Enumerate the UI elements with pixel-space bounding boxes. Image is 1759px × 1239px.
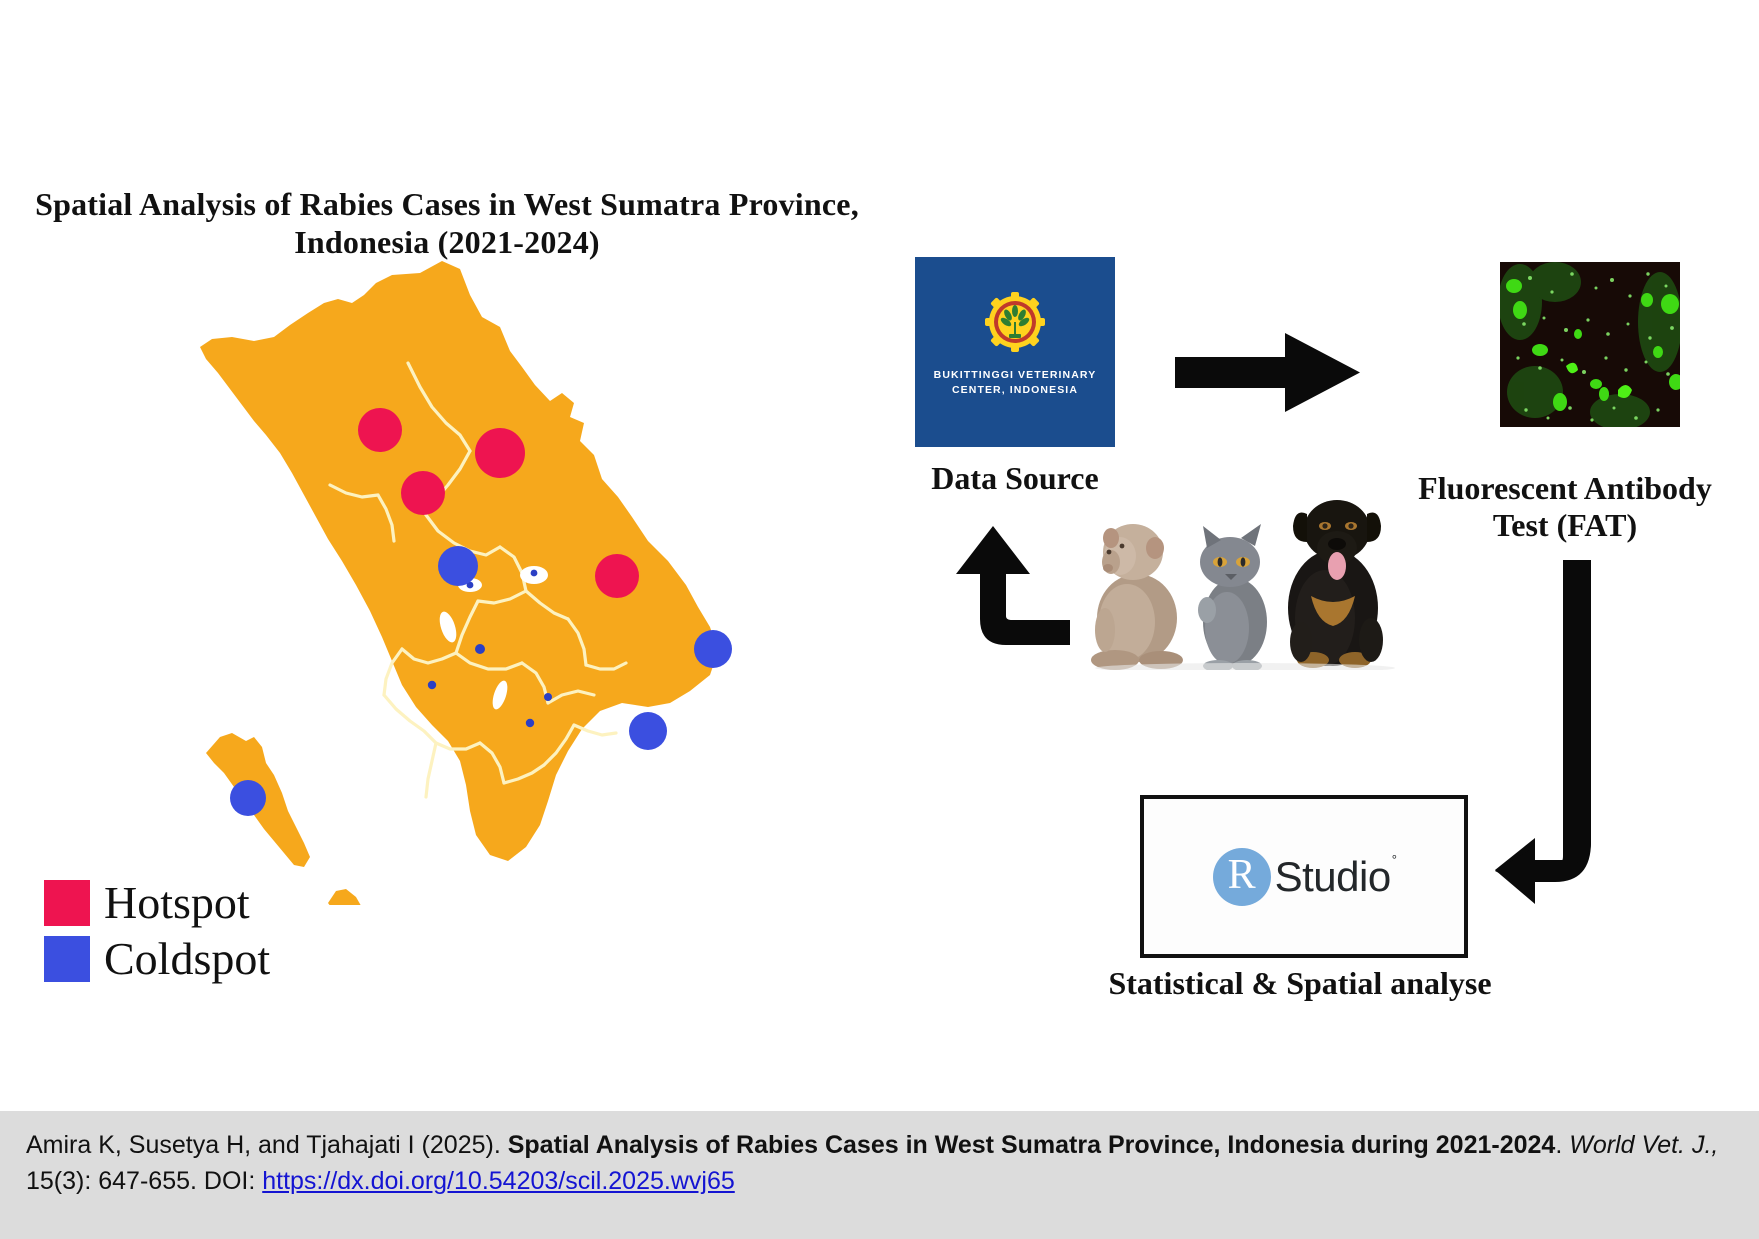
arrow-down-left-icon	[1495, 560, 1685, 905]
hotspot-marker	[401, 471, 445, 515]
rstudio-r-letter: R	[1228, 854, 1256, 896]
citation-authors: Amira K, Susetya H, and Tjahajati I (202…	[26, 1131, 508, 1159]
citation-doi-link[interactable]: https://dx.doi.org/10.54203/scil.2025.wv…	[262, 1167, 735, 1195]
citation-journal: World Vet. J.,	[1569, 1131, 1718, 1159]
rstudio-screenshot: R Studio°	[1140, 795, 1468, 958]
rstudio-r-icon: R	[1213, 848, 1271, 906]
coldspot-swatch	[44, 936, 90, 982]
arrow-up-left-icon	[950, 520, 1070, 645]
rstudio-studio-text: Studio	[1275, 853, 1391, 900]
citation-title: Spatial Analysis of Rabies Cases in West…	[508, 1131, 1556, 1159]
rstudio-logo: R Studio°	[1213, 848, 1396, 906]
legend-item-coldspot: Coldspot	[44, 936, 270, 982]
logo-caption: BUKITTINGGI VETERINARY CENTER, INDONESIA	[915, 368, 1115, 398]
analysis-caption: Statistical & Spatial analyse	[1080, 965, 1520, 1002]
citation-volume: 15(3): 647-655. DOI:	[26, 1167, 262, 1195]
rstudio-wordmark: Studio°	[1275, 853, 1396, 901]
fat-caption: Fluorescent Antibody Test (FAT)	[1400, 470, 1730, 544]
coldspot-marker	[629, 712, 667, 750]
citation-text: Amira K, Susetya H, and Tjahajati I (202…	[26, 1128, 1726, 1199]
rabies-hotspot-map	[170, 255, 770, 905]
coldspot-marker	[230, 780, 266, 816]
fat-caption-line2: Test (FAT)	[1400, 507, 1730, 544]
legend-label-coldspot: Coldspot	[104, 936, 270, 982]
legend-item-hotspot: Hotspot	[44, 880, 270, 926]
coldspot-marker	[438, 546, 478, 586]
fat-caption-line1: Fluorescent Antibody	[1400, 470, 1730, 507]
hotspot-swatch	[44, 880, 90, 926]
logo-caption-line1: BUKITTINGGI VETERINARY	[915, 368, 1115, 383]
citation-after-title: .	[1555, 1131, 1569, 1159]
hotspot-marker	[595, 554, 639, 598]
rstudio-trademark: °	[1392, 852, 1397, 867]
legend-label-hotspot: Hotspot	[104, 880, 250, 926]
logo-caption-line2: CENTER, INDONESIA	[915, 383, 1115, 398]
grey-cat-icon	[1198, 524, 1267, 670]
sipora-island	[328, 889, 376, 905]
veterinary-emblem-icon	[984, 291, 1046, 358]
map-title: Spatial Analysis of Rabies Cases in West…	[22, 186, 872, 262]
hotspot-marker	[475, 428, 525, 478]
bukittinggi-veterinary-center-logo: BUKITTINGGI VETERINARY CENTER, INDONESIA	[915, 257, 1115, 447]
rottweiler-dog-icon	[1288, 500, 1383, 668]
macaque-monkey-icon	[1091, 524, 1183, 670]
arrow-right-icon	[1175, 330, 1360, 415]
coldspot-marker	[694, 630, 732, 668]
animal-hosts-image	[1075, 490, 1415, 670]
hotspot-marker	[358, 408, 402, 452]
fluorescent-antibody-test-image	[1500, 262, 1680, 427]
graphical-abstract: Spatial Analysis of Rabies Cases in West…	[0, 0, 1759, 1239]
map-legend: Hotspot Coldspot	[44, 880, 270, 992]
